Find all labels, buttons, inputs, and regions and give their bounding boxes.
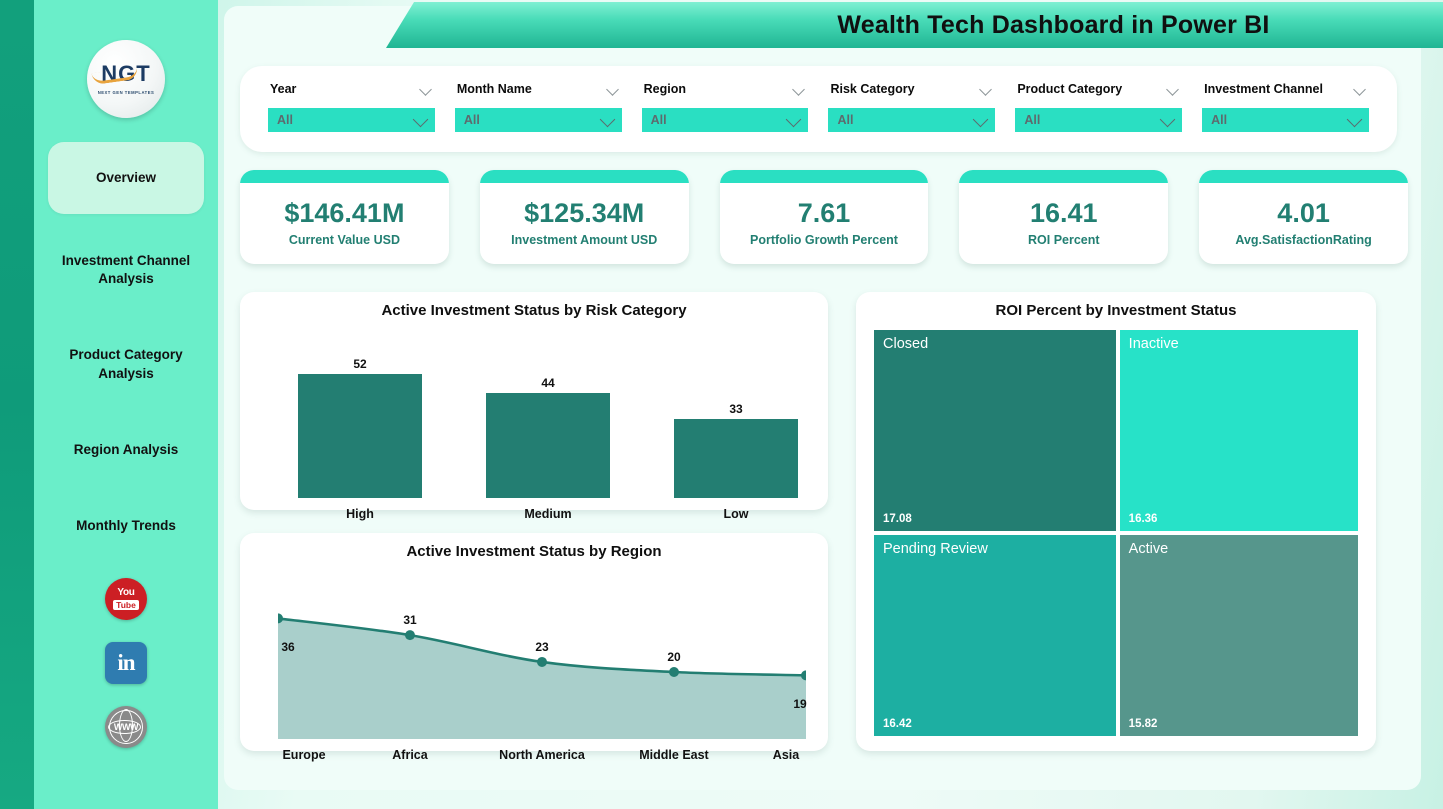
bar-column: 33Low — [674, 338, 798, 498]
area-value-label: 23 — [535, 640, 548, 654]
youtube-icon-line2: Tube — [113, 600, 139, 611]
treemap-tile-value: 15.82 — [1129, 718, 1158, 730]
chevron-down-icon — [787, 113, 801, 127]
slicer-bar: Year All Month Name All — [240, 66, 1397, 152]
treemap-tile-label: Pending Review — [883, 542, 1107, 558]
chart-title: Active Investment Status by Region — [240, 533, 828, 560]
kpi-value: 7.61 — [798, 199, 851, 229]
youtube-icon[interactable]: You Tube — [105, 578, 147, 620]
treemap-tile-label: Inactive — [1129, 337, 1349, 353]
slicer-header[interactable]: Investment Channel — [1202, 78, 1369, 100]
slicer-value: All — [1211, 113, 1227, 127]
slicer-product-category: Product Category All — [1005, 78, 1192, 132]
bar-rect[interactable] — [674, 419, 798, 498]
treemap-tile-value: 16.42 — [883, 718, 912, 730]
bar-category-label: Low — [724, 507, 749, 521]
slicer-dropdown[interactable]: All — [828, 108, 995, 132]
chevron-down-icon — [601, 113, 615, 127]
sidebar-panel: NGT NEXT GEN TEMPLATES Overview Investme… — [34, 22, 218, 782]
treemap-row: Pending Review16.42Active15.82 — [874, 535, 1358, 736]
sidebar-item-product-category-analysis[interactable]: Product Category Analysis — [48, 336, 204, 392]
slicer-header[interactable]: Product Category — [1015, 78, 1182, 100]
chevron-down-icon — [1161, 113, 1175, 127]
slicer-label: Month Name — [457, 82, 532, 96]
slicer-dropdown[interactable]: All — [455, 108, 622, 132]
slicer-header[interactable]: Region — [642, 78, 809, 100]
slicer-label: Region — [644, 82, 686, 96]
area-value-label: 36 — [281, 640, 294, 654]
chevron-down-icon — [414, 113, 428, 127]
kpi-label: Portfolio Growth Percent — [750, 233, 898, 247]
kpi-row: $146.41M Current Value USD $125.34M Inve… — [240, 170, 1408, 264]
kpi-value: $125.34M — [524, 199, 644, 229]
chevron-down-icon[interactable] — [793, 84, 804, 95]
sidebar-item-overview[interactable]: Overview — [48, 142, 204, 214]
area-category-label: North America — [499, 748, 585, 762]
treemap-tile[interactable]: Pending Review16.42 — [874, 535, 1116, 736]
area-category-label: Asia — [773, 748, 799, 762]
sidebar-item-region-analysis[interactable]: Region Analysis — [48, 431, 204, 469]
kpi-card-portfolio-growth: 7.61 Portfolio Growth Percent — [720, 170, 929, 264]
chart-panel-investment-status: ROI Percent by Investment Status Closed1… — [856, 292, 1376, 751]
slicer-value: All — [651, 113, 667, 127]
area-data-point[interactable] — [669, 667, 679, 677]
linkedin-icon-label: in — [117, 650, 134, 676]
kpi-card-avg-satisfaction: 4.01 Avg.SatisfactionRating — [1199, 170, 1408, 264]
treemap-tile[interactable]: Inactive16.36 — [1120, 330, 1358, 531]
treemap-tile-value: 17.08 — [883, 513, 912, 525]
chart-panel-region: Active Investment Status by Region 36312… — [240, 533, 828, 751]
slicer-dropdown[interactable]: All — [642, 108, 809, 132]
bar-rect[interactable] — [298, 374, 422, 498]
bar-column: 44Medium — [486, 338, 610, 498]
chevron-down-icon[interactable] — [980, 84, 991, 95]
slicer-dropdown[interactable]: All — [268, 108, 435, 132]
linkedin-icon[interactable]: in — [105, 642, 147, 684]
slicer-value: All — [277, 113, 293, 127]
logo-text: NGT — [101, 63, 150, 85]
slicer-year: Year All — [258, 78, 445, 132]
kpi-accent-bar — [1199, 170, 1408, 183]
slicer-label: Investment Channel — [1204, 82, 1323, 96]
bar-rect[interactable] — [486, 393, 610, 498]
treemap-tile[interactable]: Active15.82 — [1120, 535, 1358, 736]
slicer-header[interactable]: Month Name — [455, 78, 622, 100]
youtube-icon-line1: You — [117, 588, 134, 598]
bar-value-label: 52 — [353, 357, 366, 371]
page-title: Wealth Tech Dashboard in Power BI — [837, 11, 1269, 40]
chevron-down-icon — [974, 113, 988, 127]
chart-title: Active Investment Status by Risk Categor… — [240, 292, 828, 319]
slicer-value: All — [1024, 113, 1040, 127]
kpi-card-roi-percent: 16.41 ROI Percent — [959, 170, 1168, 264]
sidebar-item-label: Overview — [96, 169, 156, 187]
chart-title: ROI Percent by Investment Status — [856, 292, 1376, 319]
sidebar-item-investment-channel-analysis[interactable]: Investment Channel Analysis — [48, 242, 204, 298]
treemap-tile-value: 16.36 — [1129, 513, 1158, 525]
slicer-header[interactable]: Year — [268, 78, 435, 100]
kpi-accent-bar — [720, 170, 929, 183]
treemap-row: Closed17.08Inactive16.36 — [874, 330, 1358, 531]
treemap-tile[interactable]: Closed17.08 — [874, 330, 1116, 531]
kpi-label: Avg.SatisfactionRating — [1235, 233, 1371, 247]
main-content: Wealth Tech Dashboard in Power BI Year A… — [218, 0, 1443, 809]
chevron-down-icon[interactable] — [1354, 84, 1365, 95]
bar-category-label: Medium — [524, 507, 571, 521]
sidebar-item-label: Investment Channel Analysis — [54, 252, 198, 288]
kpi-label: Current Value USD — [289, 233, 400, 247]
slicer-month-name: Month Name All — [445, 78, 632, 132]
area-category-label: Africa — [392, 748, 427, 762]
slicer-label: Year — [270, 82, 296, 96]
area-fill — [278, 618, 806, 739]
chevron-down-icon[interactable] — [607, 84, 618, 95]
website-globe-icon[interactable]: WWW — [105, 706, 147, 748]
sidebar-item-monthly-trends[interactable]: Monthly Trends — [48, 507, 204, 545]
bar-column: 52High — [298, 338, 422, 498]
chevron-down-icon[interactable] — [420, 84, 431, 95]
chevron-down-icon[interactable] — [1167, 84, 1178, 95]
area-data-point[interactable] — [405, 630, 415, 640]
slicer-label: Product Category — [1017, 82, 1122, 96]
slicer-value: All — [464, 113, 480, 127]
treemap-plot: Closed17.08Inactive16.36Pending Review16… — [874, 330, 1358, 736]
slicer-investment-channel: Investment Channel All — [1192, 78, 1379, 132]
kpi-value: 4.01 — [1277, 199, 1330, 229]
kpi-value: $146.41M — [284, 199, 404, 229]
kpi-card-investment-amount: $125.34M Investment Amount USD — [480, 170, 689, 264]
bar-category-label: High — [346, 507, 374, 521]
slicer-header[interactable]: Risk Category — [828, 78, 995, 100]
kpi-card-current-value: $146.41M Current Value USD — [240, 170, 449, 264]
sidebar-item-label: Region Analysis — [74, 441, 179, 459]
area-chart-plot: 3631232019EuropeAfricaNorth AmericaMiddl… — [278, 579, 806, 739]
logo-subtitle: NEXT GEN TEMPLATES — [98, 90, 155, 95]
logo-swoosh-icon — [92, 67, 139, 85]
kpi-accent-bar — [959, 170, 1168, 183]
sidebar-item-label: Monthly Trends — [76, 517, 176, 535]
treemap-tile-label: Active — [1129, 542, 1349, 558]
header-banner: Wealth Tech Dashboard in Power BI — [386, 2, 1443, 48]
kpi-label: ROI Percent — [1028, 233, 1100, 247]
slicer-value: All — [837, 113, 853, 127]
area-value-label: 31 — [403, 613, 416, 627]
slicer-risk-category: Risk Category All — [818, 78, 1005, 132]
slicer-dropdown[interactable]: All — [1202, 108, 1369, 132]
chevron-down-icon — [1348, 113, 1362, 127]
left-rail — [0, 0, 34, 809]
kpi-label: Investment Amount USD — [511, 233, 657, 247]
slicer-region: Region All — [632, 78, 819, 132]
sidebar-nav: Overview Investment Channel Analysis Pro… — [34, 142, 218, 573]
bar-value-label: 33 — [729, 402, 742, 416]
website-icon-label: WWW — [114, 722, 138, 732]
kpi-value: 16.41 — [1030, 199, 1098, 229]
bar-value-label: 44 — [541, 376, 554, 390]
kpi-accent-bar — [240, 170, 449, 183]
area-category-label: Europe — [282, 748, 325, 762]
area-chart-svg — [278, 579, 806, 739]
area-category-label: Middle East — [639, 748, 708, 762]
slicer-dropdown[interactable]: All — [1015, 108, 1182, 132]
treemap-tile-label: Closed — [883, 337, 1107, 353]
area-value-label: 19 — [793, 697, 806, 711]
sidebar: NGT NEXT GEN TEMPLATES Overview Investme… — [34, 0, 218, 809]
slicer-label: Risk Category — [830, 82, 914, 96]
area-value-label: 20 — [667, 650, 680, 664]
kpi-accent-bar — [480, 170, 689, 183]
area-data-point[interactable] — [537, 657, 547, 667]
social-links: You Tube in WWW — [34, 578, 218, 748]
dashboard-root: NGT NEXT GEN TEMPLATES Overview Investme… — [0, 0, 1443, 809]
ngt-logo: NGT NEXT GEN TEMPLATES — [87, 40, 165, 118]
chart-panel-risk-category: Active Investment Status by Risk Categor… — [240, 292, 828, 510]
bar-chart-plot: 52High44Medium33Low — [298, 338, 798, 498]
sidebar-item-label: Product Category Analysis — [54, 346, 198, 382]
